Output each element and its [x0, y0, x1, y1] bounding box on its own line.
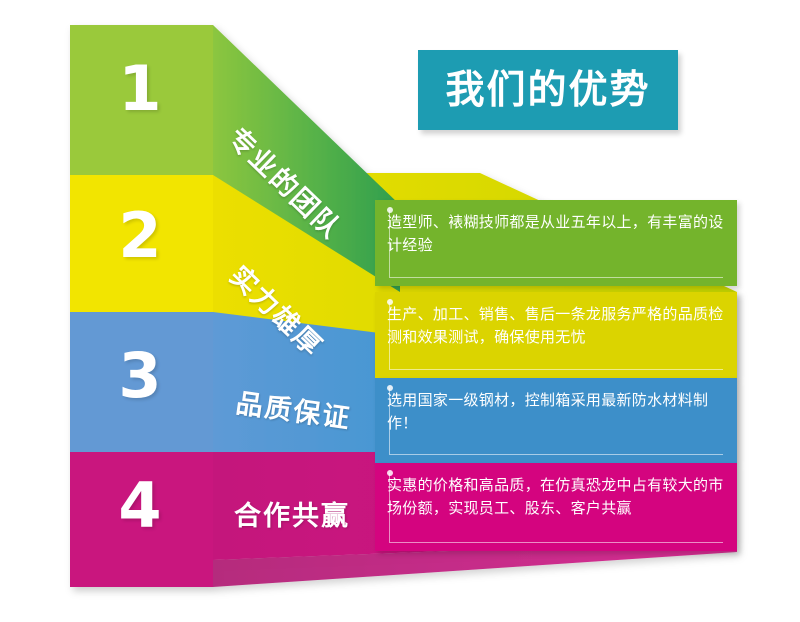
- description-text-1: 造型师、裱糊技师都是从业五年以上，有丰富的设计经验: [387, 211, 733, 258]
- description-box-1: 造型师、裱糊技师都是从业五年以上，有丰富的设计经验: [375, 200, 737, 286]
- infographic-canvas: 1 2 3 4 专业的团队 实力雄厚 品质保证 合作共赢 我们的优势 造型师、裱…: [0, 0, 800, 622]
- description-box-4: 实惠的价格和高品质，在仿真恐龙中占有较大的市场份额，实现员工、股东、客户共赢: [375, 463, 737, 551]
- title-banner: 我们的优势: [418, 50, 678, 130]
- description-box-3: 选用国家一级钢材，控制箱采用最新防水材料制作！: [375, 378, 737, 463]
- description-box-2: 生产、加工、销售、售后一条龙服务严格的品质检测和效果测试，确保使用无忧: [375, 292, 737, 378]
- description-text-2: 生产、加工、销售、售后一条龙服务严格的品质检测和效果测试，确保使用无忧: [387, 303, 733, 350]
- description-text-4: 实惠的价格和高品质，在仿真恐龙中占有较大的市场份额，实现员工、股东、客户共赢: [387, 474, 733, 521]
- description-text-3: 选用国家一级钢材，控制箱采用最新防水材料制作！: [387, 389, 733, 436]
- page-title: 我们的优势: [445, 71, 650, 110]
